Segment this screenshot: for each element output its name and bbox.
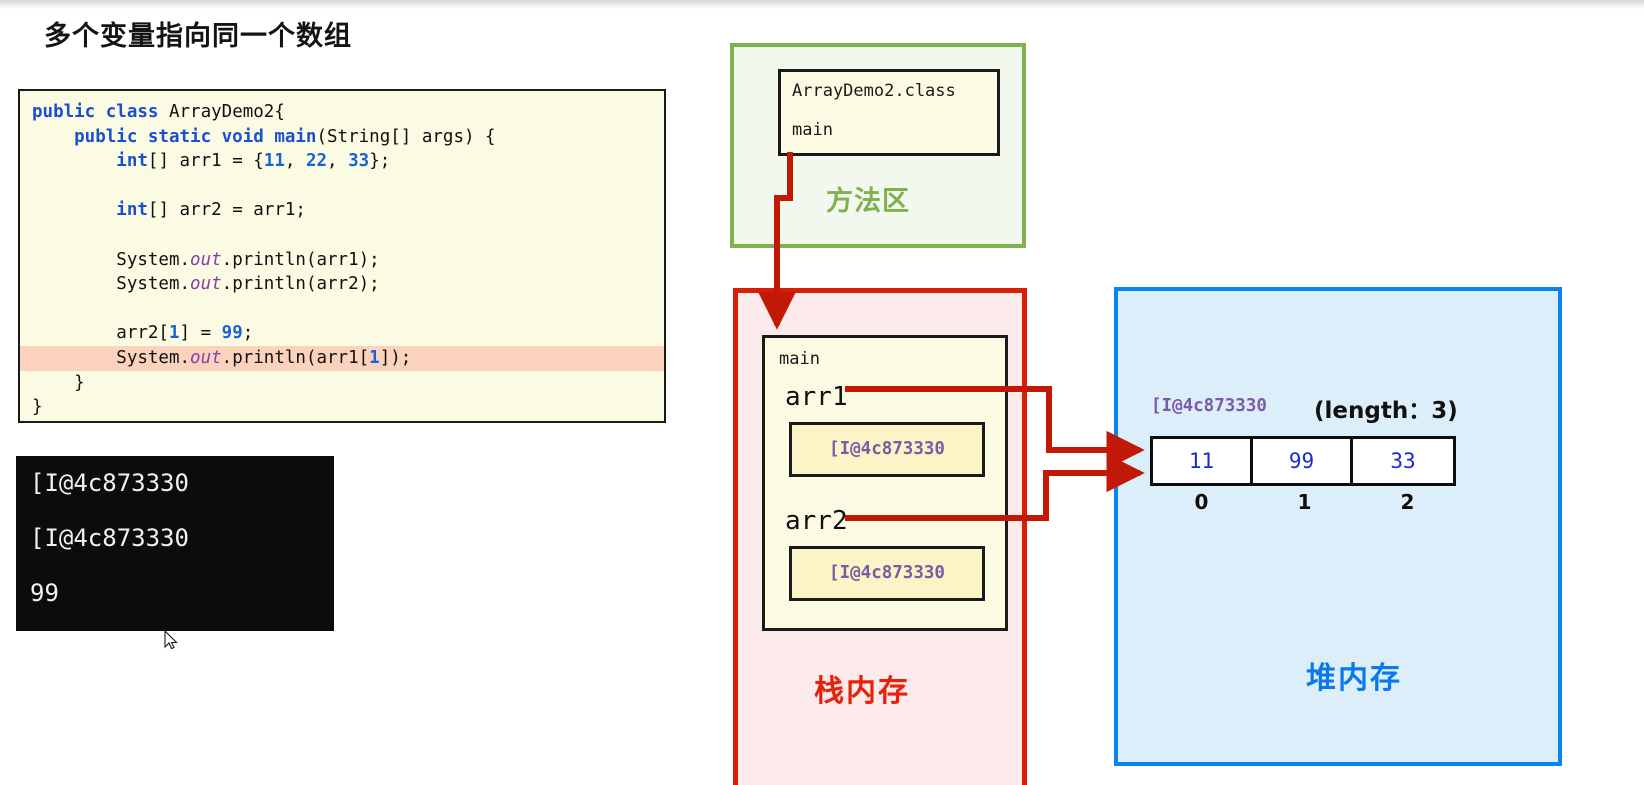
array-index: 1 <box>1253 490 1356 514</box>
code-token: public <box>32 102 106 122</box>
code-token: } <box>32 397 43 417</box>
variable-value-box-arr1: [I@4c873330 <box>789 422 985 477</box>
code-line: public class ArrayDemo2{ <box>20 100 664 125</box>
console-line: 99 <box>16 566 334 621</box>
code-token: , <box>327 151 348 171</box>
code-token: .println(arr2); <box>222 274 380 294</box>
code-token: ArrayDemo2{ <box>169 102 285 122</box>
array-index-row: 012 <box>1150 490 1459 514</box>
code-line: int[] arr1 = {11, 22, 33}; <box>20 149 664 174</box>
array-cell: 11 <box>1153 439 1253 483</box>
stack-frame-name: main <box>779 349 820 369</box>
code-token: out <box>190 274 222 294</box>
code-line: System.out.println(arr1); <box>20 248 664 273</box>
code-token: System. <box>32 348 190 368</box>
heap-length-label: (length：3) <box>1314 391 1458 425</box>
code-token: out <box>190 348 222 368</box>
code-token: ] = <box>180 323 222 343</box>
code-token: 33 <box>348 151 369 171</box>
code-token: out <box>190 250 222 270</box>
class-method-label: main <box>781 101 997 140</box>
method-area-box: ArrayDemo2.class main 方法区 <box>730 43 1026 248</box>
console-line: [I@4c873330 <box>16 456 334 511</box>
code-line: System.out.println(arr2); <box>20 272 664 297</box>
slide-canvas: 多个变量指向同一个数组 public class ArrayDemo2{ pub… <box>0 0 1644 785</box>
code-line: } <box>20 395 664 420</box>
method-area-label: 方法区 <box>826 179 910 218</box>
code-token: [] arr1 = { <box>148 151 264 171</box>
code-token: ; <box>243 323 254 343</box>
heap-memory-label: 堆内存 <box>1306 653 1402 697</box>
array-cell: 33 <box>1353 439 1453 483</box>
code-token: , <box>285 151 306 171</box>
code-line <box>20 297 664 322</box>
code-line: int[] arr2 = arr1; <box>20 198 664 223</box>
code-token: arr2[ <box>32 323 169 343</box>
variable-name-arr2: arr2 <box>785 506 848 536</box>
variable-value-box-arr2: [I@4c873330 <box>789 546 985 601</box>
page-title: 多个变量指向同一个数组 <box>44 14 352 53</box>
class-name-label: ArrayDemo2.class <box>781 72 997 101</box>
code-lines: public class ArrayDemo2{ public static v… <box>20 100 664 420</box>
code-line: System.out.println(arr1[1]); <box>20 346 664 371</box>
code-token: 1 <box>369 348 380 368</box>
code-token: }; <box>369 151 390 171</box>
console-line: [I@4c873330 <box>16 511 334 566</box>
code-token: 22 <box>306 151 327 171</box>
code-token: 11 <box>264 151 285 171</box>
mouse-pointer-icon <box>164 630 178 650</box>
class-file-box: ArrayDemo2.class main <box>778 69 1000 156</box>
heap-memory-box: [I@4c873330 (length：3) 119933 012 堆内存 <box>1114 287 1562 766</box>
array-cells-row: 119933 <box>1150 436 1456 486</box>
code-line: arr2[1] = 99; <box>20 321 664 346</box>
variable-value-arr2: [I@4c873330 <box>792 549 982 598</box>
code-token: ]); <box>380 348 412 368</box>
code-token: .println(arr1[ <box>222 348 370 368</box>
stack-memory-label: 栈内存 <box>814 666 910 710</box>
variable-value-arr1: [I@4c873330 <box>792 425 982 474</box>
code-token: int <box>32 151 148 171</box>
code-token: .println(arr1); <box>222 250 380 270</box>
code-line <box>20 174 664 199</box>
code-token: System. <box>32 274 190 294</box>
variable-name-arr1: arr1 <box>785 382 848 412</box>
code-token: 1 <box>169 323 180 343</box>
heap-address-label: [I@4c873330 <box>1151 396 1267 416</box>
array-index: 2 <box>1356 490 1459 514</box>
array-index: 0 <box>1150 490 1253 514</box>
top-gradient-bar <box>0 0 1644 9</box>
code-token: 99 <box>222 323 243 343</box>
console-output-panel: [I@4c873330 [I@4c873330 99 <box>16 456 334 631</box>
array-cell: 99 <box>1253 439 1353 483</box>
code-token: [] arr2 = arr1; <box>148 200 306 220</box>
code-token: System. <box>32 250 190 270</box>
code-token: class <box>106 102 169 122</box>
code-token: int <box>32 200 148 220</box>
code-token: (String[] args) { <box>316 127 495 147</box>
code-token: public static void main <box>32 127 316 147</box>
stack-frame-main: main arr1 [I@4c873330 arr2 [I@4c873330 <box>762 335 1008 631</box>
code-token: } <box>32 373 85 393</box>
code-line: } <box>20 371 664 396</box>
code-line <box>20 223 664 248</box>
stack-memory-box: main arr1 [I@4c873330 arr2 [I@4c873330 栈… <box>733 288 1027 785</box>
code-line: public static void main(String[] args) { <box>20 125 664 150</box>
code-panel: public class ArrayDemo2{ public static v… <box>18 89 666 423</box>
